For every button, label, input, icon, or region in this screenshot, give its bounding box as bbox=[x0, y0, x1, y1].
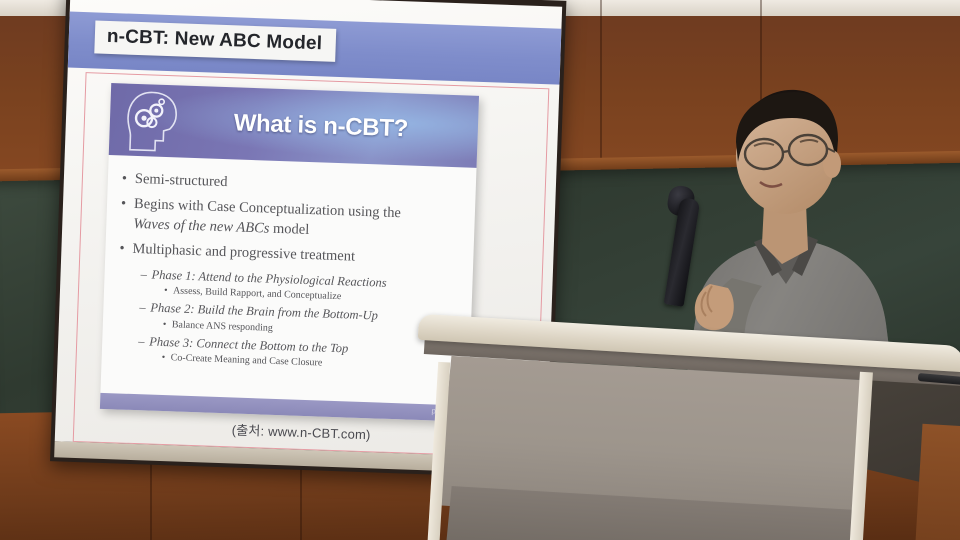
wood-seam bbox=[600, 0, 602, 160]
slide-title: n-CBT: New ABC Model bbox=[107, 26, 323, 55]
bullet-marker: • bbox=[122, 169, 136, 189]
card-header-title: What is n-CBT? bbox=[233, 109, 408, 143]
sub-sub-bullet-text: Co-Create Meaning and Case Closure bbox=[170, 353, 322, 371]
sub-bullet-marker: – bbox=[140, 266, 152, 283]
podium-wood-panel bbox=[914, 424, 960, 540]
sub-bullet-marker: – bbox=[139, 300, 151, 317]
sub-sub-bullet-text: Balance ANS responding bbox=[172, 319, 273, 335]
card-header: What is n-CBT? bbox=[109, 83, 479, 168]
bullet-text-italic: Waves of the new ABCs bbox=[133, 216, 270, 237]
sub-sub-bullet-marker: • bbox=[164, 285, 173, 298]
presentation-photo: n-CBT: New ABC Model bbox=[0, 0, 960, 540]
sub-sub-bullet-marker: • bbox=[161, 352, 170, 365]
bullet-text-tail: model bbox=[269, 220, 309, 237]
sub-bullet-marker: – bbox=[138, 333, 150, 350]
source-text: (출처: www.n-CBT.com) bbox=[231, 422, 370, 442]
lecture-podium bbox=[418, 322, 960, 540]
sub-sub-bullet-marker: • bbox=[163, 319, 172, 332]
bullet-marker: • bbox=[119, 240, 133, 260]
bullet-item: • Begins with Case Conceptualization usi… bbox=[120, 195, 467, 246]
card-header-title-wrap: What is n-CBT? bbox=[109, 83, 479, 168]
bullet-text-block: Begins with Case Conceptualization using… bbox=[133, 195, 467, 245]
